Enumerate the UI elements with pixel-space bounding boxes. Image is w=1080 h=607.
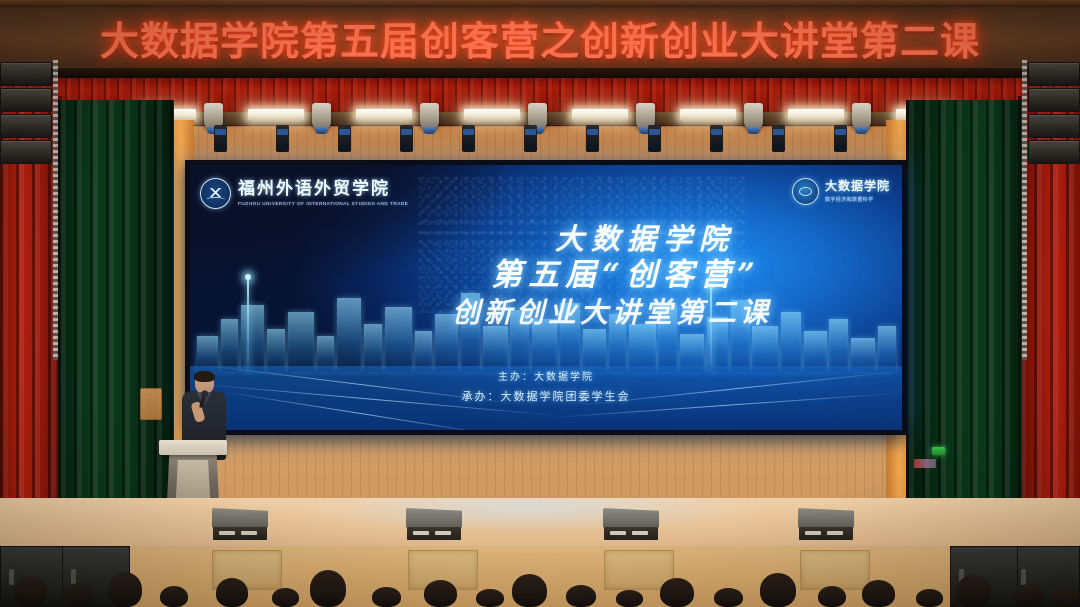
banner-text: 大数据学院第五届创客营之创新创业大讲堂第二课 bbox=[0, 11, 1080, 67]
big-data-college-crest-icon bbox=[792, 178, 819, 205]
stage-curtain-right-green bbox=[906, 100, 1022, 534]
rigging-chain bbox=[1022, 60, 1027, 360]
credit-organizer: 承办：大数据学院团委学生会 bbox=[190, 388, 902, 404]
credit-host: 主办：大数据学院 bbox=[190, 368, 902, 383]
led-headline-block: 大数据学院 第五届“创客营” 创新创业大讲堂第二课 bbox=[430, 223, 860, 329]
college-logo-right: 大数据学院 数字经济和数据科学 bbox=[792, 178, 890, 205]
headline-line-2: 第五届“创客营” bbox=[392, 257, 860, 294]
striplight-icon bbox=[464, 109, 520, 120]
monitor-cabinet bbox=[798, 508, 854, 528]
stage-curtain-left-green bbox=[58, 100, 174, 534]
speaker-cabinet bbox=[0, 140, 52, 164]
rigging-chain bbox=[53, 60, 58, 360]
led-credits-block: 主办：大数据学院 承办：大数据学院团委学生会 bbox=[190, 368, 902, 404]
monitor-base bbox=[213, 527, 267, 540]
college-name-chinese: 大数据学院 bbox=[825, 180, 890, 193]
stage-floor-light-glow bbox=[300, 498, 760, 532]
line-array-speaker-right bbox=[1028, 62, 1080, 166]
speaker-cabinet bbox=[1028, 88, 1080, 112]
banner-bottom-frame bbox=[0, 68, 1080, 78]
monitor-cabinet bbox=[603, 508, 659, 528]
presenter-hair bbox=[194, 371, 215, 382]
university-name-english: FUZHOU UNIVERSITY OF INTERNATIONAL STUDI… bbox=[238, 201, 408, 206]
banner-top-frame bbox=[0, 0, 1080, 7]
college-subtitle: 数字经济和数据科学 bbox=[825, 196, 890, 203]
moving-head-light-icon bbox=[312, 103, 331, 129]
wall-access-panel bbox=[140, 388, 162, 420]
par-can-light-icon bbox=[524, 125, 537, 152]
speaker-cabinet bbox=[1028, 140, 1080, 164]
fuzhou-university-crest-icon bbox=[200, 178, 231, 209]
curtain-pleats bbox=[906, 100, 1022, 534]
monitor-base bbox=[799, 527, 853, 540]
par-can-light-icon bbox=[772, 125, 785, 152]
stage-monitor-speaker bbox=[798, 508, 854, 540]
par-can-light-icon bbox=[276, 125, 289, 152]
par-can-light-icon bbox=[710, 125, 723, 152]
par-can-light-icon bbox=[338, 125, 351, 152]
lectern-top-surface bbox=[159, 440, 227, 455]
emergency-exit-sign bbox=[932, 447, 945, 455]
striplight-icon bbox=[356, 109, 412, 120]
speaker-cabinet bbox=[1028, 114, 1080, 138]
par-can-light-icon bbox=[648, 125, 661, 152]
moving-head-light-icon bbox=[420, 103, 439, 129]
stage-monitor-speaker bbox=[406, 508, 462, 540]
par-can-light-icon bbox=[462, 125, 475, 152]
line-array-speaker-left bbox=[0, 62, 52, 166]
university-name-chinese: 福州外语外贸学院 bbox=[238, 181, 408, 199]
par-can-light-icon bbox=[834, 125, 847, 152]
fire-extinguisher-cabinet bbox=[914, 459, 936, 468]
moving-head-light-icon bbox=[744, 103, 763, 129]
stage-monitor-speaker bbox=[603, 508, 659, 540]
monitor-base bbox=[604, 527, 658, 540]
speaker-cabinet bbox=[0, 62, 52, 86]
university-logo-left: 福州外语外贸学院 FUZHOU UNIVERSITY OF INTERNATIO… bbox=[200, 178, 408, 209]
striplight-icon bbox=[680, 109, 736, 120]
speaker-cabinet bbox=[0, 88, 52, 112]
par-can-light-icon bbox=[586, 125, 599, 152]
overhead-lighting-truss bbox=[132, 96, 962, 154]
led-video-wall: 福州外语外贸学院 FUZHOU UNIVERSITY OF INTERNATIO… bbox=[185, 160, 907, 435]
curtain-pleats bbox=[58, 100, 174, 534]
speaker-cabinet bbox=[0, 114, 52, 138]
stage-front-vent-panel bbox=[800, 550, 870, 590]
auditorium-stage-photo: 大数据学院第五届创客营之创新创业大讲堂第二课 bbox=[0, 0, 1080, 607]
monitor-cabinet bbox=[212, 508, 268, 528]
par-can-light-icon bbox=[214, 125, 227, 152]
monitor-cabinet bbox=[406, 508, 462, 528]
headline-line-1: 大数据学院 bbox=[430, 223, 860, 255]
stage-monitor-speaker bbox=[212, 508, 268, 540]
par-can-light-icon bbox=[400, 125, 413, 152]
striplight-icon bbox=[788, 109, 844, 120]
headline-line-3: 创新创业大讲堂第二课 bbox=[364, 296, 860, 330]
monitor-base bbox=[407, 527, 461, 540]
speaker-cabinet bbox=[1028, 62, 1080, 86]
led-marquee-banner: 大数据学院第五届创客营之创新创业大讲堂第二课 bbox=[0, 0, 1080, 78]
striplight-icon bbox=[248, 109, 304, 120]
striplight-icon bbox=[572, 109, 628, 120]
moving-head-light-icon bbox=[852, 103, 871, 129]
